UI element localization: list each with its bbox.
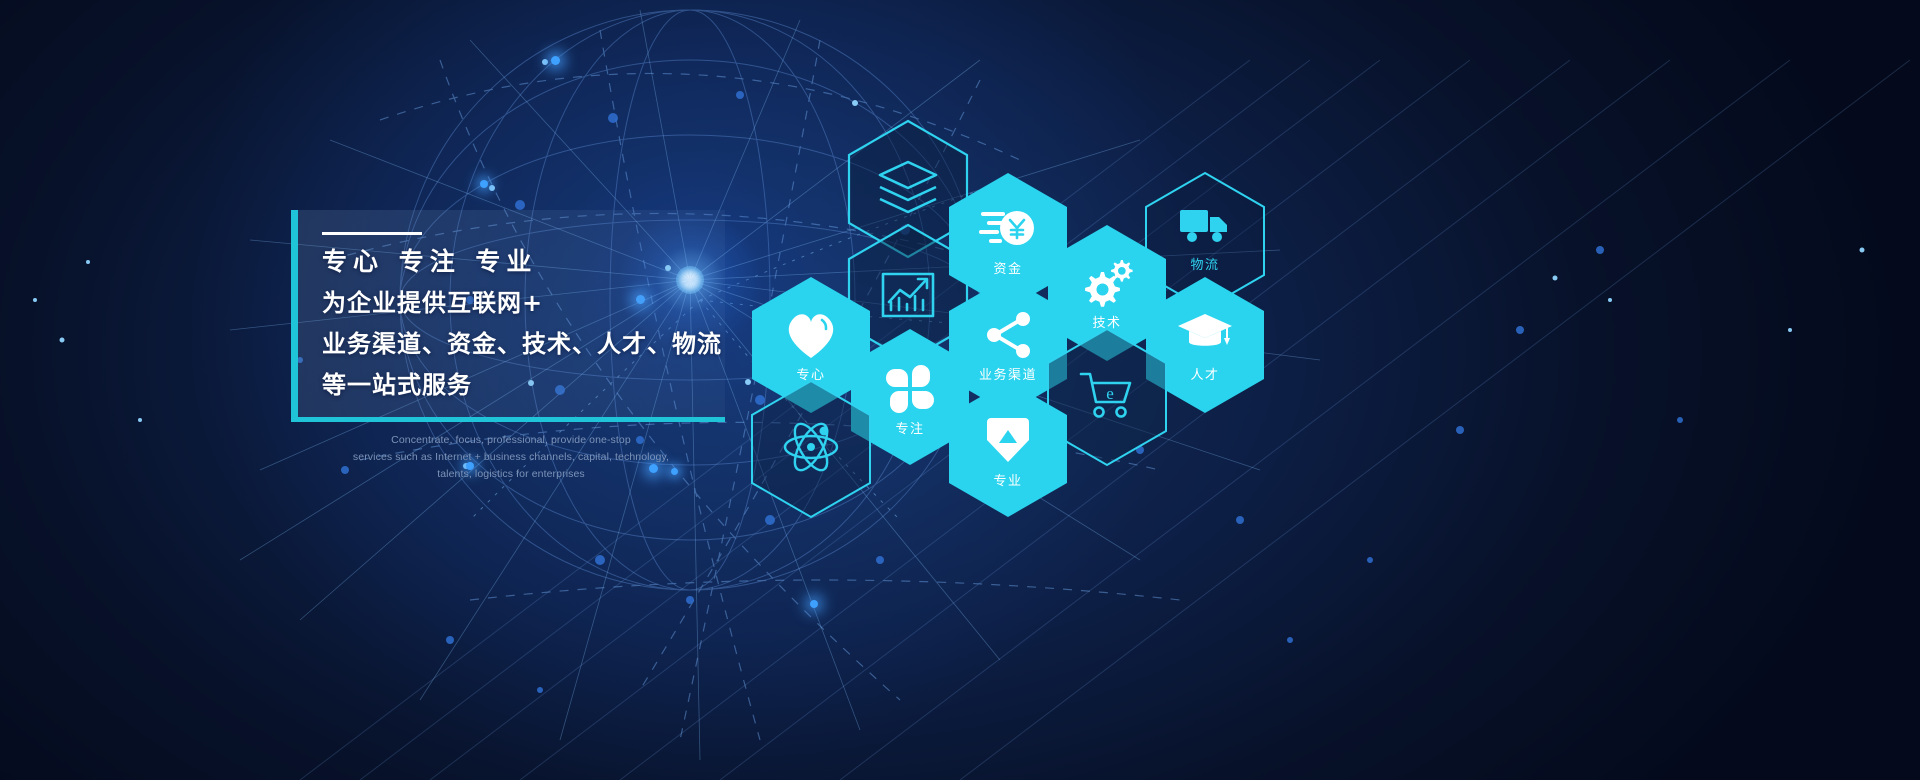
subtitle-line-1: Concentrate, focus, professional, provid…	[316, 432, 706, 449]
subtitle-line-2: services such as Internet + business cha…	[316, 449, 706, 466]
hexagon-label: 专业	[948, 470, 1068, 489]
headline-line-2: 为企业提供互联网+	[322, 291, 722, 315]
headline-line-3: 业务渠道、资金、技术、人才、物流	[322, 332, 722, 356]
atom-icon	[751, 418, 871, 481]
headline-line-4: 等一站式服务	[322, 373, 722, 397]
glow-dot	[810, 600, 818, 608]
hexagon-zhuanye[interactable]: 专业	[948, 380, 1068, 518]
svg-text:e: e	[1106, 384, 1114, 403]
subtitle-block: Concentrate, focus, professional, provid…	[316, 432, 706, 483]
hexagon-atom[interactable]	[751, 380, 871, 518]
banner-hero: 专心 专注 专业 为企业提供互联网+ 业务渠道、资金、技术、人才、物流 等一站式…	[0, 0, 1920, 780]
headline-rule	[322, 232, 422, 235]
headline-line-1: 专心 专注 专业	[322, 249, 722, 274]
glow-dot	[551, 56, 560, 65]
subtitle-line-3: talents, logistics for enterprises	[316, 466, 706, 483]
headline-panel: 专心 专注 专业 为企业提供互联网+ 业务渠道、资金、技术、人才、物流 等一站式…	[291, 210, 725, 422]
headline-panel-inner: 专心 专注 专业 为企业提供互联网+ 业务渠道、资金、技术、人才、物流 等一站式…	[322, 232, 722, 397]
diamond-icon	[948, 416, 1068, 469]
glow-dot	[480, 180, 488, 188]
